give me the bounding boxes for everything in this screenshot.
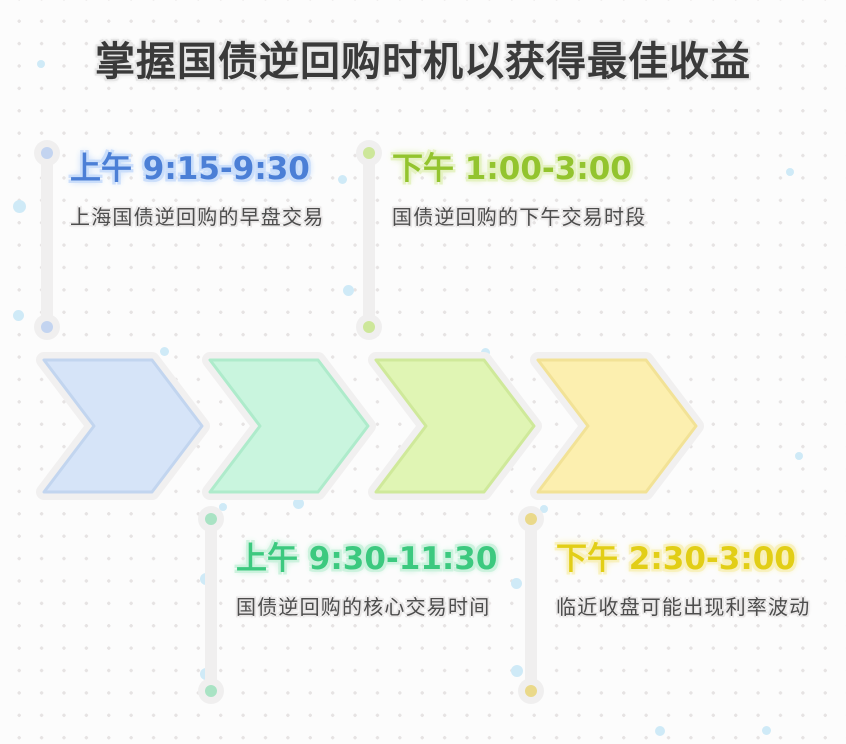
accent-dot <box>343 285 354 296</box>
connector-step-4 <box>518 506 544 704</box>
connector-knob-top <box>518 506 544 532</box>
connector-knob-bottom <box>518 678 544 704</box>
connector-knob-bottom <box>34 314 60 340</box>
chevron-step-3 <box>366 352 542 500</box>
chevron-step-2 <box>200 352 376 500</box>
connector-bar <box>205 515 217 695</box>
connector-knob-top <box>34 140 60 166</box>
chevron-body-step-4 <box>538 360 696 492</box>
step-description-3: 国债逆回购的下午交易时段 <box>392 202 654 234</box>
step-time-3: 下午 1:00-3:00 <box>392 148 654 190</box>
step-card-1: 上午 9:15-9:30 上海国债逆回购的早盘交易 <box>70 148 332 234</box>
chevron-body-step-1 <box>44 360 202 492</box>
connector-knob-top <box>198 506 224 532</box>
accent-dot <box>338 175 347 184</box>
infographic-canvas: 掌握国债逆回购时机以获得最佳收益 <box>0 0 846 744</box>
step-card-3: 下午 1:00-3:00 国债逆回购的下午交易时段 <box>392 148 654 234</box>
connector-bar <box>363 149 375 331</box>
accent-dot <box>13 200 26 213</box>
accent-dot <box>655 726 665 736</box>
chevron-step-4 <box>528 352 704 500</box>
accent-dot <box>795 452 803 460</box>
chevron-body-step-2 <box>210 360 368 492</box>
step-time-1: 上午 9:15-9:30 <box>70 148 332 190</box>
page-title: 掌握国债逆回购时机以获得最佳收益 <box>0 29 846 87</box>
step-time-2: 上午 9:30-11:30 <box>236 538 504 580</box>
step-description-2: 国债逆回购的核心交易时间 <box>236 592 504 624</box>
accent-dot <box>13 310 24 321</box>
accent-dot <box>786 168 794 176</box>
accent-dot <box>762 726 771 735</box>
connector-bar <box>41 149 53 331</box>
connector-knob-bottom <box>356 314 382 340</box>
connector-step-1 <box>34 140 60 340</box>
step-card-4: 下午 2:30-3:00 临近收盘可能出现利率波动 <box>556 538 824 624</box>
step-card-2: 上午 9:30-11:30 国债逆回购的核心交易时间 <box>236 538 504 624</box>
connector-step-2 <box>198 506 224 704</box>
connector-step-3 <box>356 140 382 340</box>
chevron-body-step-3 <box>376 360 534 492</box>
step-description-4: 临近收盘可能出现利率波动 <box>556 592 824 624</box>
connector-bar <box>525 515 537 695</box>
chevron-step-1 <box>34 352 210 500</box>
step-description-1: 上海国债逆回购的早盘交易 <box>70 202 332 234</box>
connector-knob-bottom <box>198 678 224 704</box>
step-time-4: 下午 2:30-3:00 <box>556 538 824 580</box>
connector-knob-top <box>356 140 382 166</box>
